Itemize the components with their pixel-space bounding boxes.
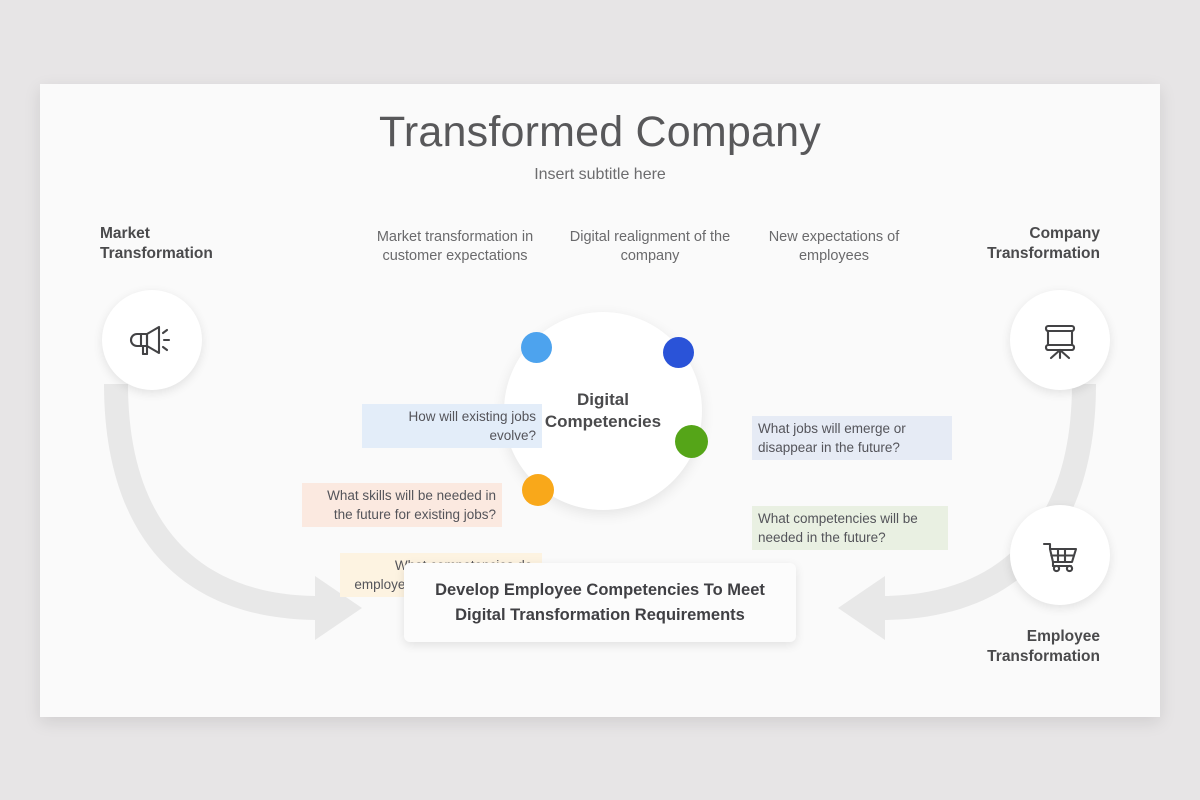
slide-canvas: Transformed Company Insert subtitle here…	[40, 84, 1160, 717]
dot-jobs-emerge-disappear[interactable]	[663, 337, 694, 368]
megaphone-icon	[128, 316, 176, 364]
center-label: Digital Competencies	[545, 389, 661, 433]
page-title: Transformed Company	[40, 108, 1160, 157]
flipchart-icon	[1036, 316, 1084, 364]
conclusion-box[interactable]: Develop Employee Competencies To Meet Di…	[404, 563, 796, 642]
header-digital-realignment: Digital realignment of the company	[550, 228, 750, 266]
center-label-line1: Digital	[545, 389, 661, 411]
header-company-transformation-line1: Company	[920, 224, 1100, 244]
employee-transformation-icon-circle	[1010, 505, 1110, 605]
dot-existing-jobs-evolve[interactable]	[521, 332, 552, 363]
page-subtitle: Insert subtitle here	[40, 166, 1160, 184]
header-employee-transformation-line2: Transformation	[920, 647, 1100, 667]
header-company-transformation-line2: Transformation	[920, 244, 1100, 264]
callout-competencies-needed-future[interactable]: What competencies will be needed in the …	[752, 506, 948, 550]
dot-competencies-currently-possess[interactable]	[522, 474, 554, 506]
conclusion-line1: Develop Employee Competencies To Meet	[435, 578, 765, 603]
header-company-transformation: Company Transformation	[920, 224, 1100, 264]
callout-skills-needed-existing-jobs[interactable]: What skills will be needed in the future…	[302, 483, 502, 527]
conclusion-text: Develop Employee Competencies To Meet Di…	[435, 578, 765, 628]
callout-existing-jobs-evolve[interactable]: How will existing jobs evolve?	[362, 404, 542, 448]
header-employee-transformation-line1: Employee	[920, 627, 1100, 647]
market-transformation-icon-circle	[102, 290, 202, 390]
header-market-transformation: Market Transformation	[100, 224, 280, 264]
dot-competencies-needed-future[interactable]	[675, 425, 708, 458]
header-market-customer-expectations: Market transformation in customer expect…	[355, 228, 555, 266]
header-market-transformation-line1: Market	[100, 224, 280, 244]
header-employee-transformation: Employee Transformation	[920, 627, 1100, 667]
conclusion-line2: Digital Transformation Requirements	[435, 603, 765, 628]
header-new-expectations: New expectations of employees	[734, 228, 934, 266]
center-label-line2: Competencies	[545, 411, 661, 433]
shopping-cart-icon	[1036, 531, 1084, 579]
company-transformation-icon-circle	[1010, 290, 1110, 390]
header-market-transformation-line2: Transformation	[100, 244, 280, 264]
callout-jobs-emerge-disappear[interactable]: What jobs will emerge or disappear in th…	[752, 416, 952, 460]
